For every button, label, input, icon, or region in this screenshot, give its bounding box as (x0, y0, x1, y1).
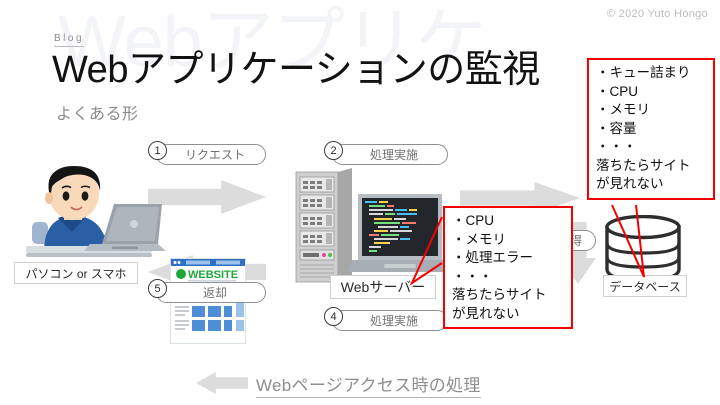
flow-step-5-badge: 5 (148, 279, 167, 298)
callout-line: ・処理エラー (452, 249, 565, 268)
bottom-flow-arrow (196, 372, 248, 394)
flow-step-2-badge: 2 (324, 141, 343, 160)
callout-line: が見れない (452, 305, 565, 324)
flow-step-5[interactable]: 5 返却 (156, 282, 266, 303)
callout-line: 落ちたらサイト (452, 286, 565, 305)
client-illustration (18, 160, 168, 270)
webserver-callout: ・CPU ・メモリ ・処理エラー ・・・ 落ちたらサイト が見れない (443, 206, 573, 329)
page-subtitle: よくある形 (56, 100, 139, 124)
callout-line: ・メモリ (596, 101, 707, 120)
callout-line: ・キュー詰まり (596, 64, 707, 83)
callout-line: ・・・ (452, 268, 565, 287)
flow-step-1[interactable]: 1 リクエスト (156, 144, 266, 165)
flow-step-1-label: リクエスト (185, 146, 245, 163)
flow-step-5-label: 返却 (203, 284, 227, 301)
callout-line: ・容量 (596, 120, 707, 139)
callout-line: が見れない (596, 175, 707, 194)
flow-step-2[interactable]: 2 処理実施 (332, 144, 448, 165)
callout-line: ・メモリ (452, 231, 565, 250)
callout-line: ・・・ (596, 138, 707, 157)
flow-step-4-badge: 4 (324, 307, 343, 326)
database-callout: ・キュー詰まり ・CPU ・メモリ ・容量 ・・・ 落ちたらサイト が見れない (587, 58, 715, 200)
svg-text:WEBSITE: WEBSITE (188, 269, 238, 281)
client-label: パソコン or スマホ (14, 262, 138, 284)
slide-canvas: Webアプリケ Blog Webアプリケーションの監視 よくある形 © 2020… (0, 0, 720, 405)
flow-step-2-label: 処理実施 (370, 146, 418, 163)
callout-line: ・CPU (596, 83, 707, 102)
callout-line: ・CPU (452, 212, 565, 231)
flow-step-1-badge: 1 (148, 141, 167, 160)
copyright-notice: © 2020 Yuto Hongo (607, 8, 708, 20)
bottom-caption: Webページアクセス時の処理 (256, 371, 481, 398)
callout-line: 落ちたらサイト (596, 157, 707, 176)
database-callout-pointer (600, 205, 700, 285)
blog-tag: Blog (54, 33, 84, 47)
page-title: Webアプリケーションの監視 (52, 47, 540, 93)
